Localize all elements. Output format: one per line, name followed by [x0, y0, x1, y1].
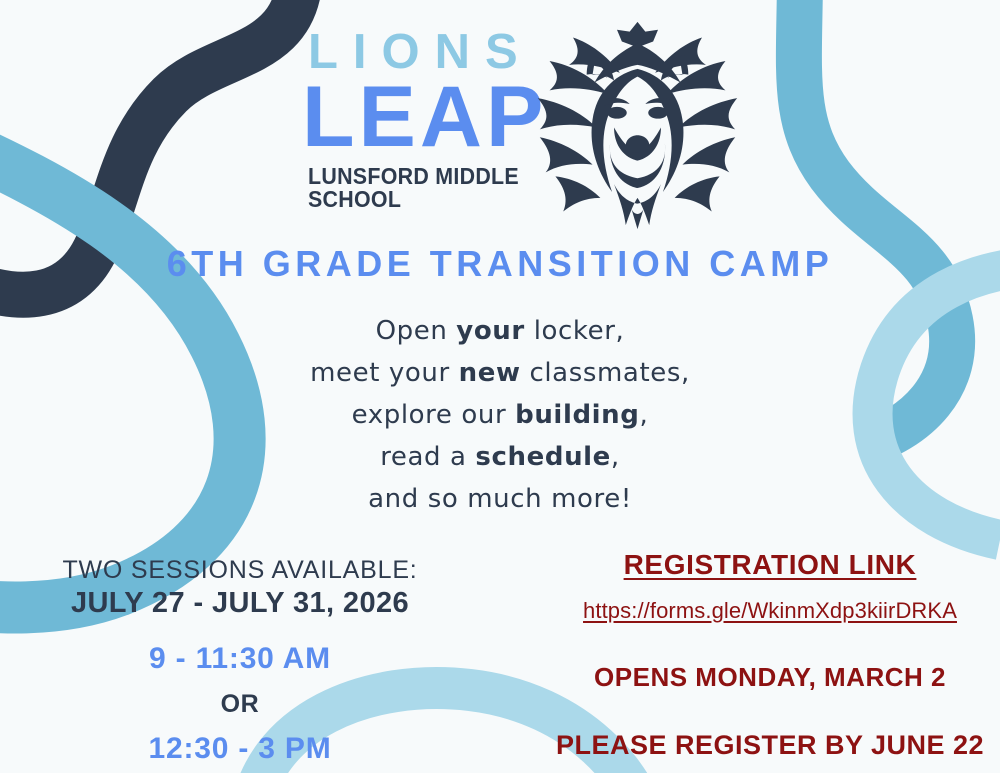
flyer-canvas: LIONS LEAP LUNSFORD MIDDLE SCHOOL — [0, 0, 1000, 773]
logo-wordmark: LIONS LEAP LUNSFORD MIDDLE SCHOOL — [290, 28, 540, 211]
logo-lockup: LIONS LEAP LUNSFORD MIDDLE SCHOOL — [290, 18, 750, 228]
sessions-block: TWO SESSIONS AVAILABLE: JULY 27 - JULY 3… — [30, 556, 450, 767]
body-line-bold: building — [515, 400, 639, 430]
session-separator: OR — [30, 689, 450, 719]
registration-title: REGISTRATION LINK — [545, 548, 995, 582]
body-line-bold: schedule — [475, 442, 611, 472]
registration-deadline: PLEASE REGISTER BY JUNE 22 — [545, 729, 995, 761]
logo-leap-text: LEAP — [302, 78, 540, 157]
body-line-plain-end: locker, — [525, 316, 625, 346]
body-line-bold: your — [456, 316, 525, 346]
registration-link[interactable]: https://forms.gle/WkinmXdp3kiirDRKA — [545, 598, 995, 624]
lion-head-icon — [530, 18, 745, 233]
logo-school-name: LUNSFORD MIDDLE SCHOOL — [308, 165, 524, 211]
sessions-dates: JULY 27 - JULY 31, 2026 — [30, 586, 450, 621]
body-line: read a schedule, — [0, 436, 1000, 478]
body-line-plain: explore our — [352, 400, 515, 430]
page-title: 6TH GRADE TRANSITION CAMP — [0, 243, 1000, 285]
body-copy: Open your locker, meet your new classmat… — [0, 310, 1000, 520]
session-time-afternoon: 12:30 - 3 PM — [30, 731, 450, 767]
body-line: explore our building, — [0, 394, 1000, 436]
flyer-content: LIONS LEAP LUNSFORD MIDDLE SCHOOL — [0, 0, 1000, 773]
body-line-plain: meet your — [310, 358, 459, 388]
body-line-bold: new — [459, 358, 521, 388]
registration-block: REGISTRATION LINK https://forms.gle/Wkin… — [545, 548, 995, 762]
body-line-plain: read a — [380, 442, 475, 472]
body-line-plain: Open — [376, 316, 457, 346]
body-line-plain-end: , — [640, 400, 649, 430]
body-line: and so much more! — [0, 478, 1000, 520]
body-line: meet your new classmates, — [0, 352, 1000, 394]
body-line-plain: and so much more! — [368, 484, 632, 514]
body-line-plain-end: , — [611, 442, 620, 472]
body-line: Open your locker, — [0, 310, 1000, 352]
registration-opens-date: OPENS MONDAY, MARCH 2 — [545, 662, 995, 693]
session-time-morning: 9 - 11:30 AM — [30, 641, 450, 677]
body-line-plain-end: classmates, — [521, 358, 690, 388]
sessions-label: TWO SESSIONS AVAILABLE: — [30, 556, 450, 585]
